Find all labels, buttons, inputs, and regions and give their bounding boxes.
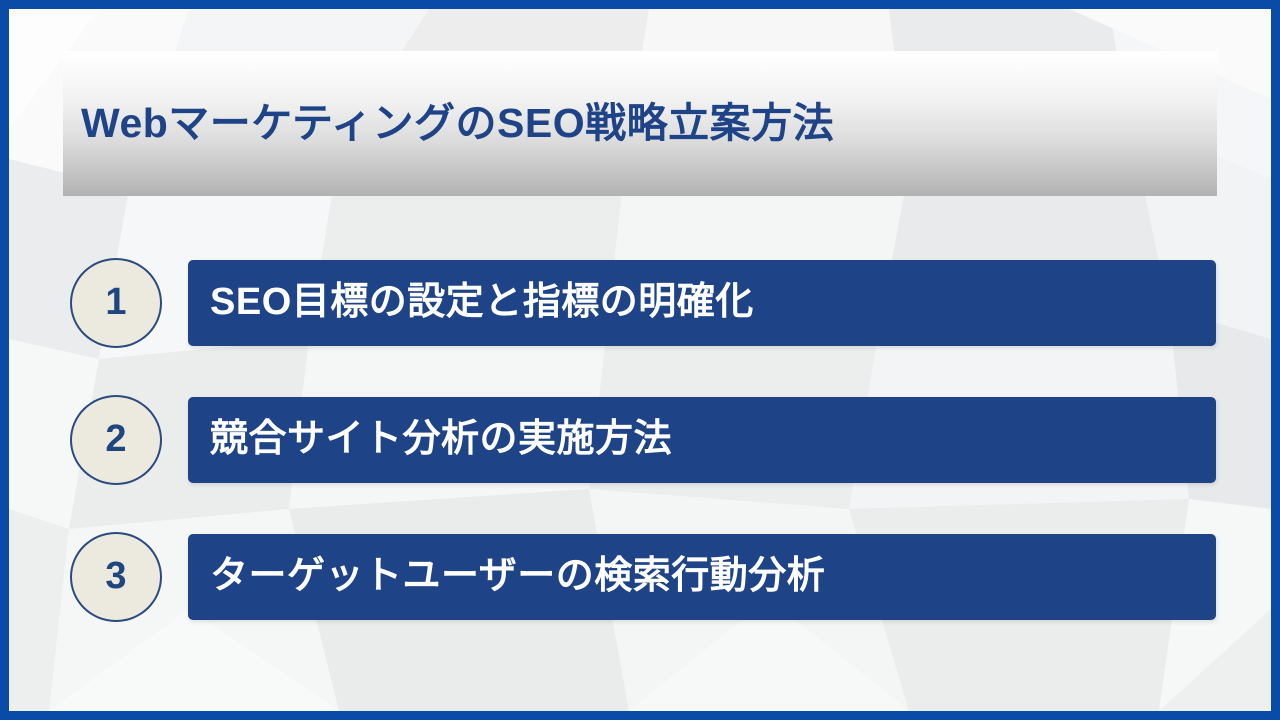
- list-item[interactable]: 2 競合サイト分析の実施方法: [9, 395, 1271, 485]
- list-item[interactable]: 1 SEO目標の設定と指標の明確化: [9, 258, 1271, 348]
- step-number-circle: 3: [70, 532, 162, 622]
- step-bar[interactable]: SEO目標の設定と指標の明確化: [188, 260, 1216, 346]
- step-number-circle: 1: [70, 258, 162, 348]
- title-banner: WebマーケティングのSEO戦略立案方法: [63, 51, 1217, 196]
- step-bar[interactable]: ターゲットユーザーの検索行動分析: [188, 534, 1216, 620]
- step-text-label: ターゲットユーザーの検索行動分析: [210, 556, 825, 598]
- step-number-label: 2: [105, 420, 126, 460]
- step-number-label: 1: [105, 283, 126, 323]
- page-title: WebマーケティングのSEO戦略立案方法: [81, 101, 834, 146]
- steps-list: 1 SEO目標の設定と指標の明確化 2 競合サイト分析の実施方法 3: [9, 258, 1271, 622]
- step-text-label: 競合サイト分析の実施方法: [210, 419, 672, 461]
- slide-frame: WebマーケティングのSEO戦略立案方法 1 SEO目標の設定と指標の明確化 2…: [0, 0, 1280, 720]
- step-number-label: 3: [105, 557, 126, 597]
- step-text-label: SEO目標の設定と指標の明確化: [210, 282, 754, 324]
- step-number-circle: 2: [70, 395, 162, 485]
- step-bar[interactable]: 競合サイト分析の実施方法: [188, 397, 1216, 483]
- list-item[interactable]: 3 ターゲットユーザーの検索行動分析: [9, 532, 1271, 622]
- slide-canvas: WebマーケティングのSEO戦略立案方法 1 SEO目標の設定と指標の明確化 2…: [9, 9, 1271, 711]
